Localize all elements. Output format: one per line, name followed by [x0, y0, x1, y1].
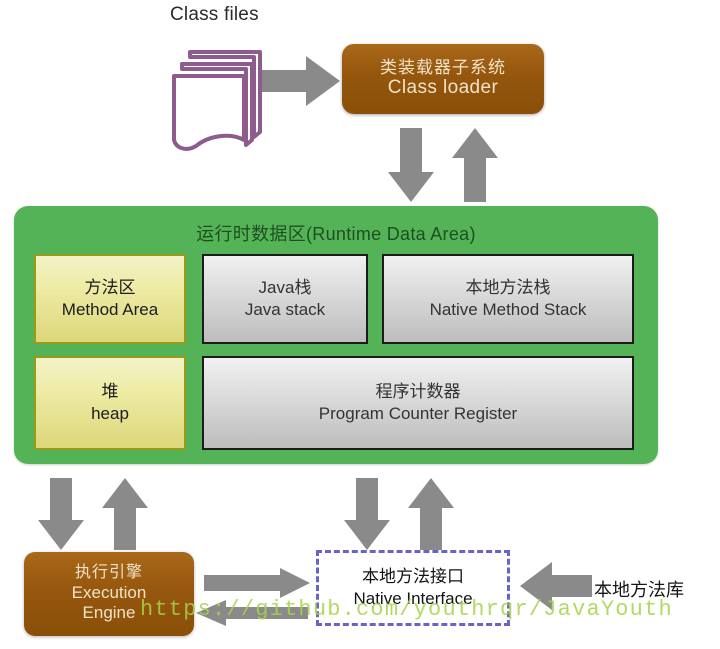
arrow-native-interface-to-runtime: [408, 478, 454, 550]
program-counter-register-box[interactable]: 程序计数器 Program Counter Register: [202, 356, 634, 450]
java-stack-label-cn: Java栈: [259, 278, 312, 298]
execution-engine-label-en-line1: Execution: [72, 583, 147, 603]
execution-engine-label-cn: 执行引擎: [75, 564, 143, 582]
arrow-runtime-to-execution-engine: [38, 478, 84, 550]
native-method-stack-box[interactable]: 本地方法栈 Native Method Stack: [382, 254, 634, 344]
java-stack-box[interactable]: Java栈 Java stack: [202, 254, 368, 344]
class-loader-label-cn: 类装载器子系统: [380, 58, 506, 78]
native-interface-box[interactable]: 本地方法接口 Native Interface: [316, 550, 510, 626]
heap-label-en: heap: [91, 403, 129, 424]
program-counter-label-en: Program Counter Register: [319, 403, 517, 424]
arrow-runtime-to-class-loader: [452, 128, 498, 202]
arrow-class-files-to-class-loader: [262, 56, 340, 106]
execution-engine-box[interactable]: 执行引擎 Execution Engine: [24, 552, 194, 636]
class-loader-box[interactable]: 类装载器子系统 Class loader: [342, 44, 544, 114]
heap-label-cn: 堆: [102, 382, 119, 402]
arrow-runtime-to-native-interface: [344, 478, 390, 550]
class-loader-label-en: Class loader: [388, 77, 498, 100]
jvm-architecture-diagram: Class files 类装载器子系统 Class loader 运行时数据区(: [0, 0, 720, 649]
stacked-documents-icon: [168, 36, 276, 154]
arrow-execution-engine-to-native-interface: [204, 568, 310, 598]
native-method-stack-label-cn: 本地方法栈: [466, 278, 551, 298]
method-area-label-en: Method Area: [62, 299, 158, 320]
method-area-label-cn: 方法区: [85, 278, 136, 298]
java-stack-label-en: Java stack: [245, 299, 325, 320]
native-method-library-label: 本地方法库: [594, 576, 684, 602]
runtime-data-area-title: 运行时数据区(Runtime Data Area): [14, 220, 658, 246]
arrow-class-loader-to-runtime: [388, 128, 434, 202]
heap-box[interactable]: 堆 heap: [34, 356, 186, 450]
arrow-execution-engine-to-runtime: [102, 478, 148, 550]
native-interface-label-en: Native Interface: [353, 588, 472, 609]
native-interface-label-cn: 本地方法接口: [362, 567, 464, 587]
native-method-stack-label-en: Native Method Stack: [430, 299, 587, 320]
method-area-box[interactable]: 方法区 Method Area: [34, 254, 186, 344]
class-files-label: Class files: [170, 4, 259, 26]
execution-engine-label-en-line2: Engine: [83, 603, 136, 623]
program-counter-label-cn: 程序计数器: [376, 382, 461, 402]
arrow-native-interface-to-execution-engine: [196, 600, 308, 626]
arrow-native-library-to-native-interface: [520, 562, 592, 610]
